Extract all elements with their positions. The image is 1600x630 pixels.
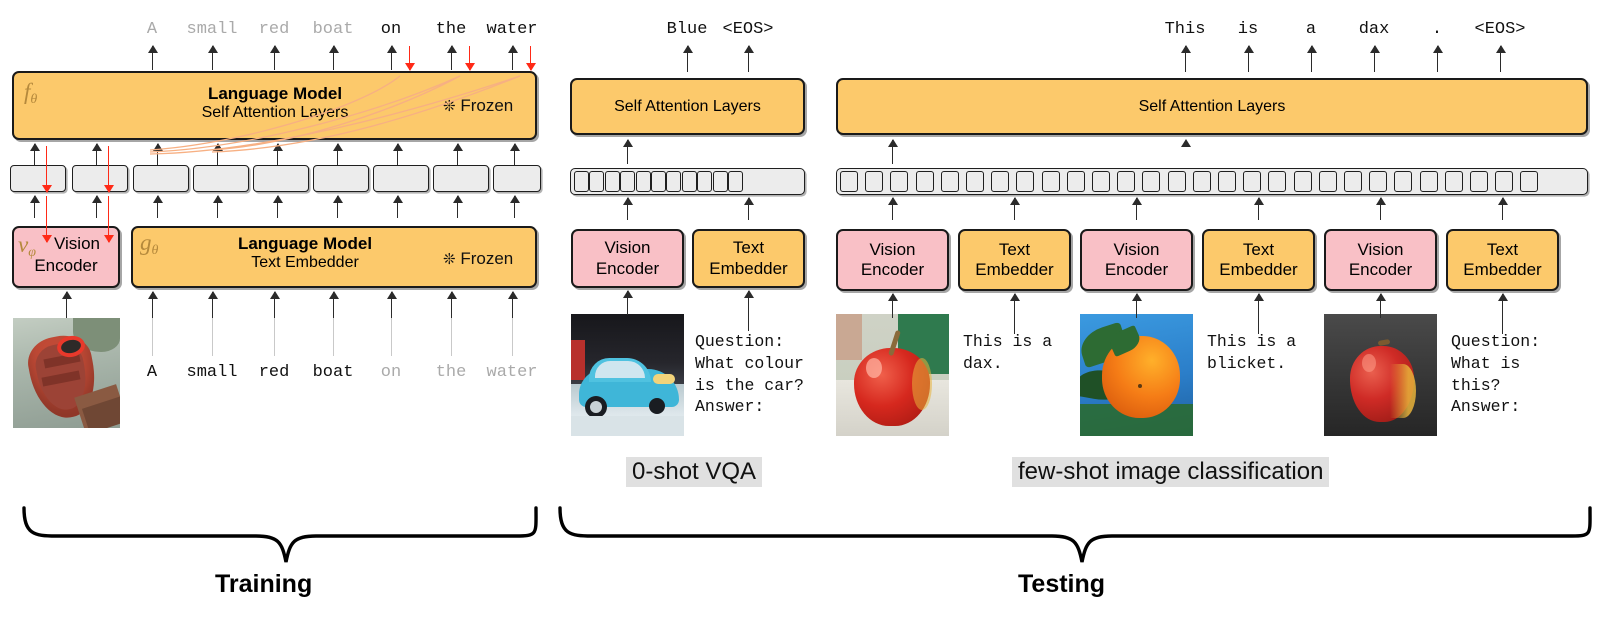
gradient-arrow	[469, 46, 470, 70]
embedding-token	[1243, 171, 1261, 192]
gradient-arrow	[46, 146, 47, 192]
embedding-token	[728, 171, 743, 192]
token-text: A	[147, 363, 157, 382]
flow-arrow	[66, 292, 67, 318]
embedding-token	[589, 171, 604, 192]
flow-arrow	[627, 140, 628, 164]
embedding-token	[865, 171, 883, 192]
flow-arrow	[1014, 198, 1015, 220]
embedding-token	[1520, 171, 1538, 192]
flow-arrow	[1502, 198, 1503, 220]
token-text: <EOS>	[722, 20, 773, 39]
embedding-token	[1168, 171, 1186, 192]
embedding-token	[620, 171, 635, 192]
embedding-token	[1092, 171, 1110, 192]
flow-arrow	[1248, 46, 1249, 72]
embedding-token	[605, 171, 620, 192]
flow-arrow	[96, 196, 97, 218]
flow-arrow	[212, 46, 213, 70]
token-text: .	[1432, 20, 1442, 39]
flow-arrow	[333, 292, 334, 318]
embedding-token	[666, 171, 681, 192]
flow-arrow	[1380, 198, 1381, 220]
flow-arrow	[152, 46, 153, 70]
flow-arrow	[687, 46, 688, 72]
embedding-token	[1495, 171, 1513, 192]
embedding-token	[916, 171, 934, 192]
embedding-token	[1218, 171, 1236, 192]
embedding-token	[651, 171, 666, 192]
flow-arrow	[1136, 294, 1137, 318]
token-text: small	[186, 363, 237, 382]
token-text: on	[381, 20, 401, 39]
embedding-token	[1016, 171, 1034, 192]
token-text: red	[259, 363, 290, 382]
token-text: This	[1165, 20, 1206, 39]
embedding-token	[1268, 171, 1286, 192]
token-text: a	[1306, 20, 1316, 39]
flow-arrow	[274, 292, 275, 318]
token-text: the	[436, 363, 467, 382]
embedding-token	[636, 171, 651, 192]
flow-arrow	[748, 291, 749, 331]
token-text: boat	[313, 20, 354, 39]
flow-arrow	[457, 196, 458, 218]
token-text: <EOS>	[1474, 20, 1525, 39]
embedding-token	[991, 171, 1009, 192]
flow-arrow	[1185, 46, 1186, 72]
token-guide-line	[274, 318, 275, 356]
token-text: on	[381, 363, 401, 382]
flow-arrow	[892, 140, 893, 164]
token-guide-line	[451, 318, 452, 356]
flow-arrow	[337, 196, 338, 218]
embedding-token	[253, 165, 309, 192]
token-guide-line	[512, 318, 513, 356]
embedding-token	[1445, 171, 1463, 192]
embedding-token	[72, 165, 128, 192]
flow-arrow	[34, 196, 35, 218]
flow-arrow	[152, 292, 153, 318]
attention-curves	[0, 60, 560, 180]
gradient-arrow	[530, 46, 531, 70]
embedding-token	[682, 171, 697, 192]
embedding-token	[1067, 171, 1085, 192]
flow-arrow	[451, 292, 452, 318]
embedding-token	[966, 171, 984, 192]
flow-arrow	[1500, 46, 1501, 72]
embedding-token	[1142, 171, 1160, 192]
flow-arrow	[333, 46, 334, 70]
flow-arrow	[451, 46, 452, 70]
token-text: A	[147, 20, 157, 39]
embedding-token	[433, 165, 489, 192]
flow-arrow	[212, 292, 213, 318]
embedding-token	[1319, 171, 1337, 192]
embedding-token	[941, 171, 959, 192]
gradient-arrow	[46, 196, 47, 242]
gradient-arrow	[409, 46, 410, 70]
embedding-token	[1193, 171, 1211, 192]
flow-arrow	[892, 294, 893, 318]
flow-arrow	[1437, 46, 1438, 72]
flow-arrow	[512, 46, 513, 70]
flow-arrow	[627, 198, 628, 220]
flow-arrow	[1258, 198, 1259, 220]
flow-arrow	[277, 196, 278, 218]
flow-arrow	[391, 46, 392, 70]
embedding-token	[10, 165, 66, 192]
embedding-token	[1369, 171, 1387, 192]
flow-arrow	[514, 196, 515, 218]
gradient-arrow	[108, 146, 109, 192]
flow-arrow	[748, 198, 749, 220]
embedding-token	[1470, 171, 1488, 192]
flow-arrow	[397, 196, 398, 218]
flow-arrow	[1311, 46, 1312, 72]
token-guide-line	[333, 318, 334, 356]
token-text: dax	[1359, 20, 1390, 39]
embedding-token	[1042, 171, 1060, 192]
flow-arrow	[391, 292, 392, 318]
token-text: water	[486, 363, 537, 382]
flow-arrow	[274, 46, 275, 70]
flow-arrow	[1014, 294, 1015, 334]
embedding-token	[697, 171, 712, 192]
embedding-token	[1117, 171, 1135, 192]
flow-arrow	[1374, 46, 1375, 72]
flow-arrow	[892, 198, 893, 220]
embedding-token	[890, 171, 908, 192]
flow-arrow	[1136, 198, 1137, 220]
flow-arrow	[512, 292, 513, 318]
token-text: water	[486, 20, 537, 39]
flow-arrow	[1380, 294, 1381, 318]
token-guide-line	[391, 318, 392, 356]
token-guide-line	[152, 318, 153, 356]
embedding-token	[1294, 171, 1312, 192]
flow-arrow	[217, 196, 218, 218]
token-text: Blue	[667, 20, 708, 39]
flow-arrow	[157, 196, 158, 218]
flow-arrow	[1258, 294, 1259, 334]
token-guide-line	[212, 318, 213, 356]
token-text: small	[186, 20, 237, 39]
embedding-token	[193, 165, 249, 192]
embedding-token	[840, 171, 858, 192]
token-text: red	[259, 20, 290, 39]
embedding-token	[373, 165, 429, 192]
embedding-token	[1344, 171, 1362, 192]
token-text: is	[1238, 20, 1258, 39]
flow-arrow	[1502, 294, 1503, 334]
embedding-token	[133, 165, 189, 192]
embedding-token	[1420, 171, 1438, 192]
flow-arrow	[748, 46, 749, 72]
token-text: the	[436, 20, 467, 39]
embedding-token	[1394, 171, 1412, 192]
embedding-token	[493, 165, 541, 192]
embedding-token	[713, 171, 728, 192]
gradient-arrow	[108, 196, 109, 242]
flow-arrow	[627, 291, 628, 315]
embedding-token	[313, 165, 369, 192]
dynamic-layer: Asmallredboatonthewater Asmallredboatont…	[0, 0, 1600, 630]
embedding-token	[574, 171, 589, 192]
token-text: boat	[313, 363, 354, 382]
